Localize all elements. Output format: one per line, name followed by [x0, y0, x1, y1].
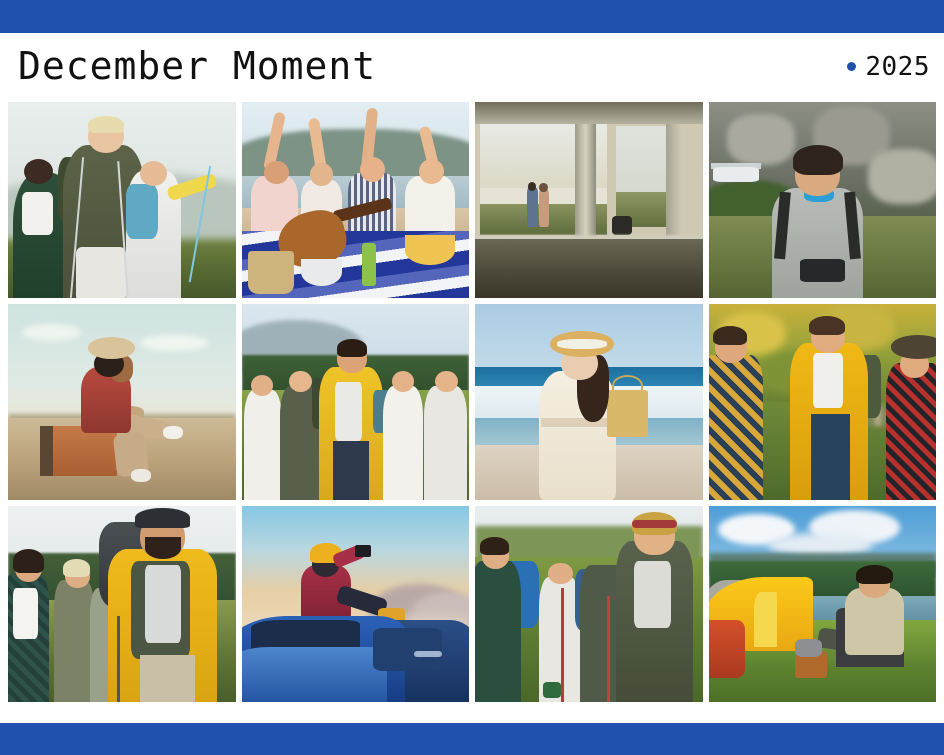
page-title: December Moment	[18, 47, 376, 89]
photo-autumn-hikers	[709, 304, 937, 500]
bullet-dot-icon	[847, 62, 856, 71]
year-badge: 2025	[847, 54, 930, 82]
photo-van-window-couple	[475, 102, 703, 298]
photo-cell-5[interactable]	[8, 304, 236, 500]
photo-hikers-green-field	[475, 506, 703, 702]
photo-cell-11[interactable]	[475, 506, 703, 702]
photo-lakeside-party	[242, 102, 470, 298]
photo-drone-pilot	[709, 102, 937, 298]
photo-cell-10[interactable]	[242, 506, 470, 702]
photo-cell-1[interactable]	[8, 102, 236, 298]
photo-backpacker-leader	[8, 506, 236, 702]
photo-cell-8[interactable]	[709, 304, 937, 500]
photo-suitcase-desert	[8, 304, 236, 500]
photo-hikers-poles	[8, 102, 236, 298]
photo-cell-2[interactable]	[242, 102, 470, 298]
year-label: 2025	[865, 54, 930, 80]
photo-grid	[8, 102, 936, 702]
photo-cell-12[interactable]	[709, 506, 937, 702]
photo-friends-meadow	[242, 304, 470, 500]
poster-header: December Moment 2025	[0, 33, 944, 102]
photo-cell-3[interactable]	[475, 102, 703, 298]
poster-page: December Moment 2025	[0, 0, 944, 755]
photo-cell-7[interactable]	[475, 304, 703, 500]
photo-cell-6[interactable]	[242, 304, 470, 500]
photo-car-roof-sunset	[242, 506, 470, 702]
photo-cell-9[interactable]	[8, 506, 236, 702]
bottom-accent-bar	[0, 723, 944, 755]
photo-lakeside-camping	[709, 506, 937, 702]
photo-cell-4[interactable]	[709, 102, 937, 298]
photo-beach-woman	[475, 304, 703, 500]
top-accent-bar	[0, 0, 944, 33]
